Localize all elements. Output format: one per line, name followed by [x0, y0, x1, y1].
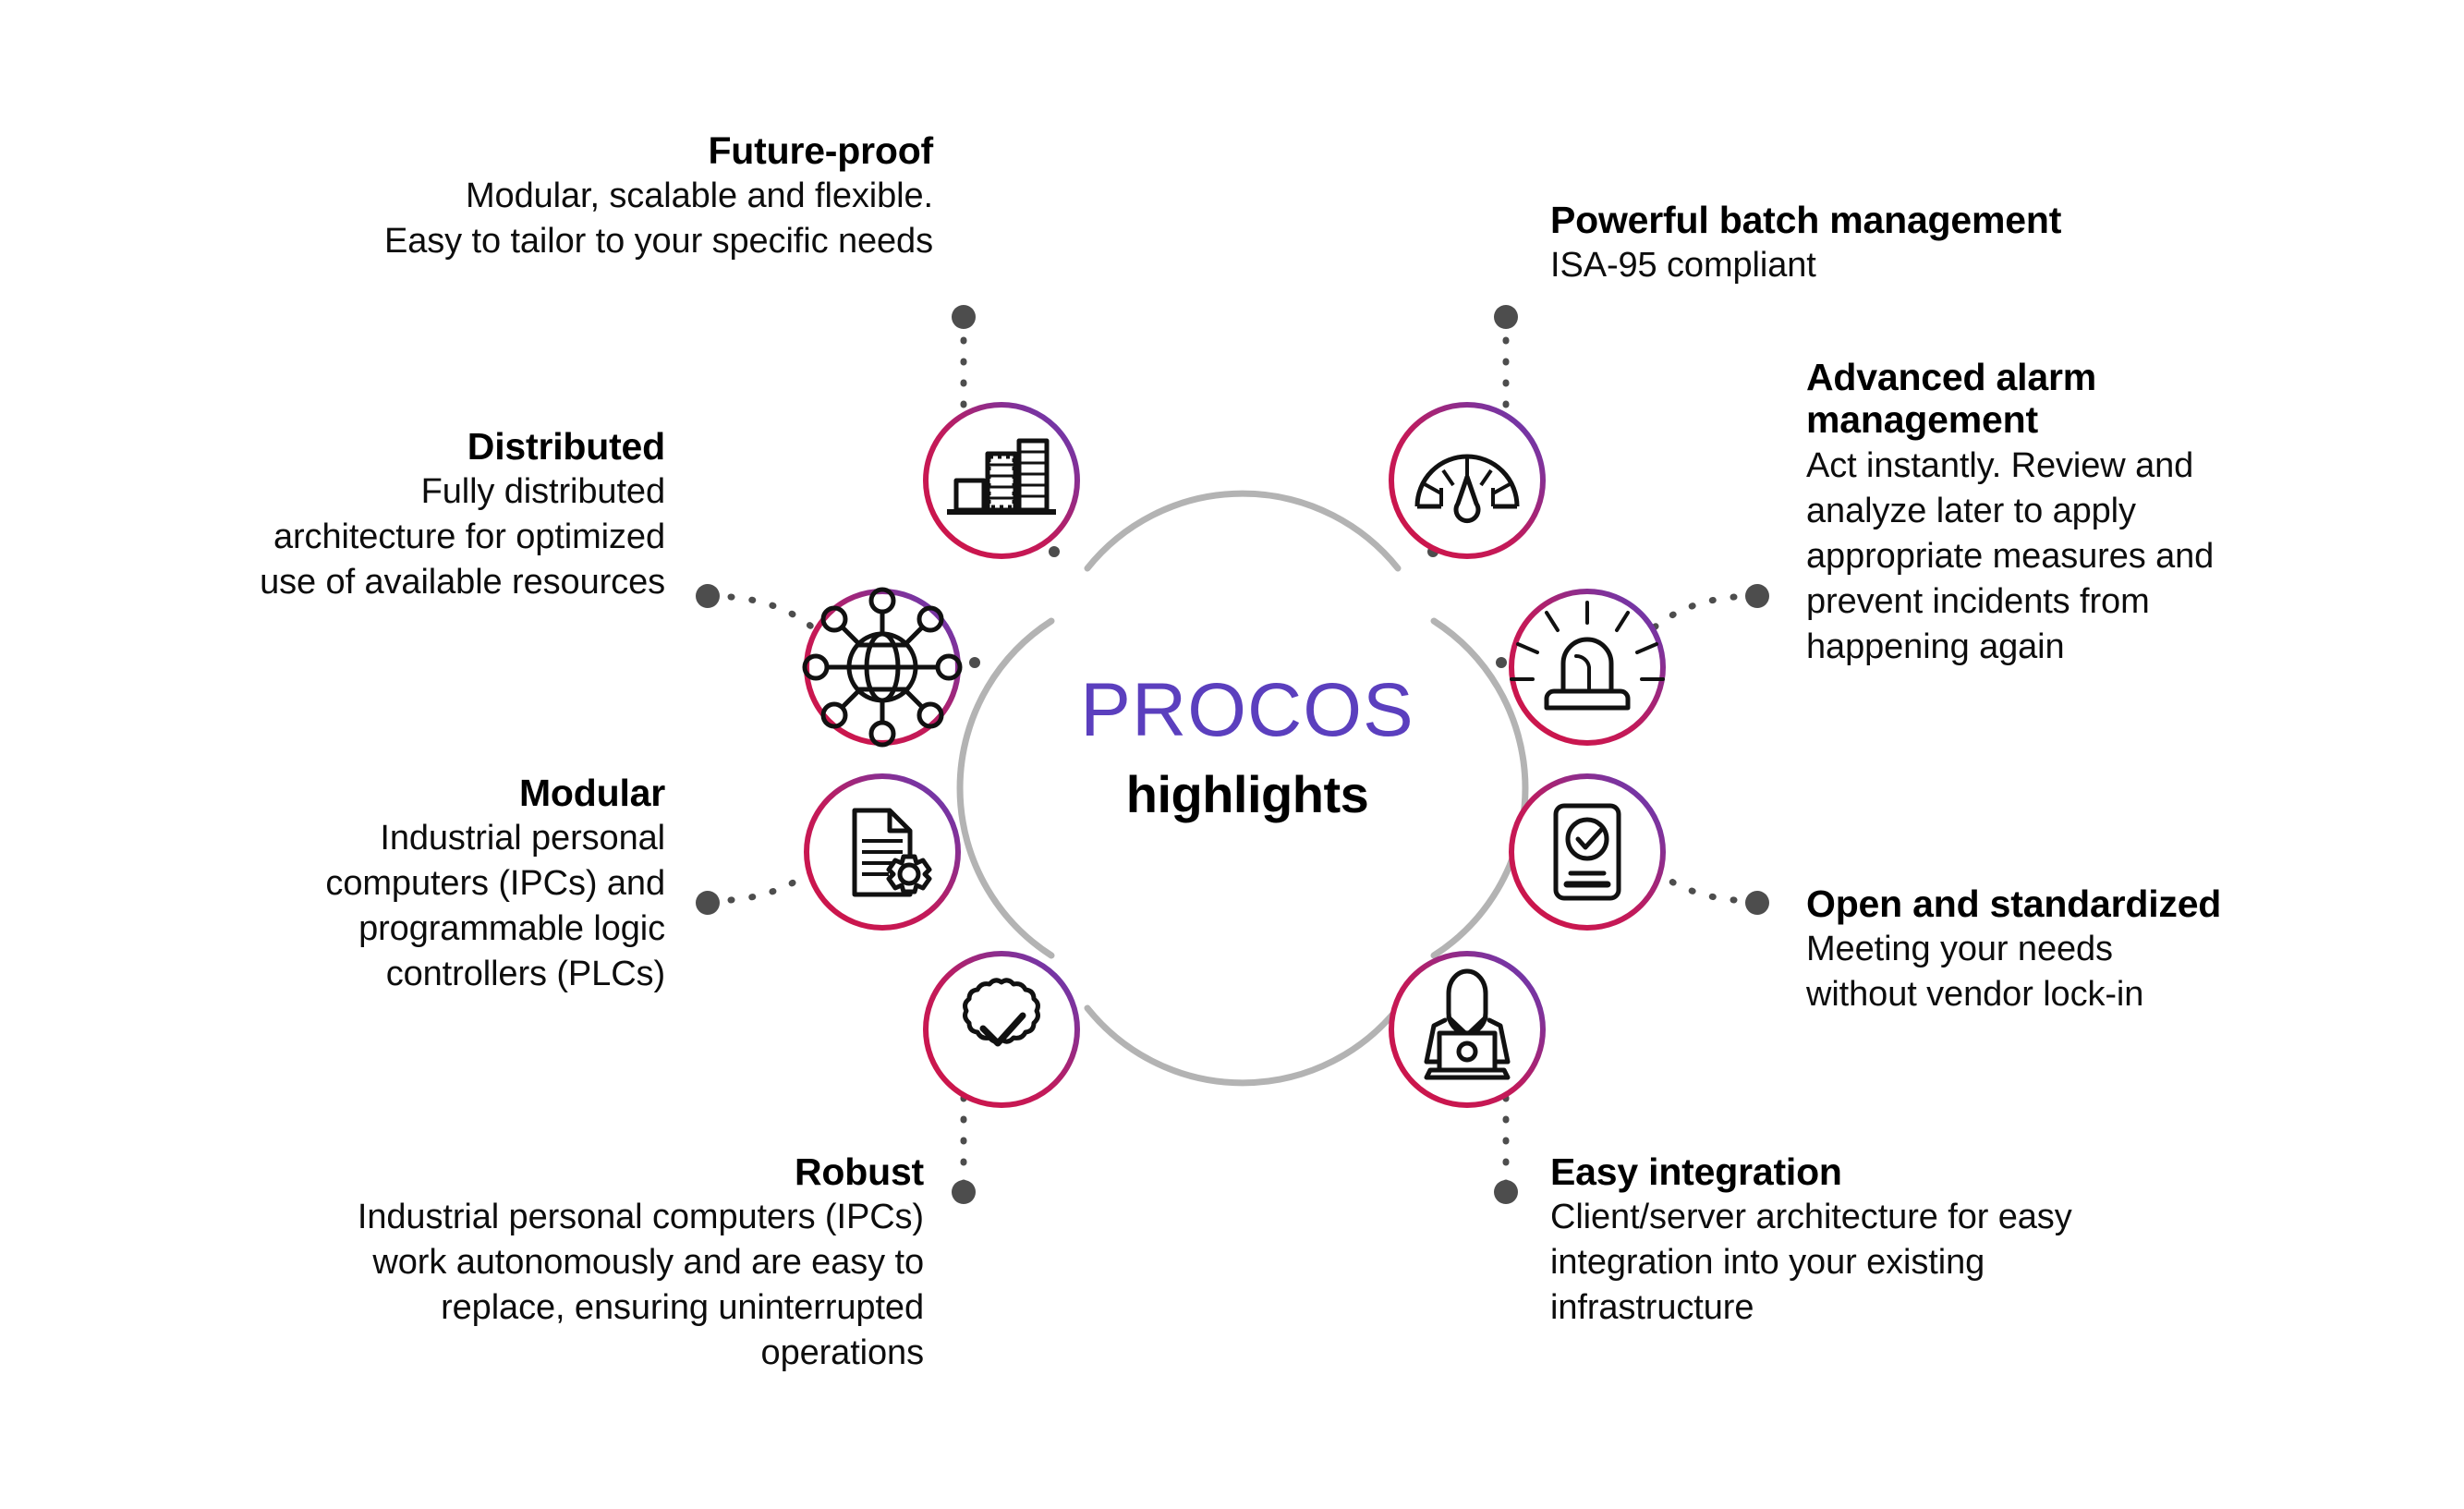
callout-body: Fully distributed architecture for optim… — [37, 469, 665, 605]
bar-chart-icon-ring — [926, 405, 1077, 556]
callout-modular: Modular Industrial personal computers (I… — [74, 772, 665, 997]
callout-body: Modular, scalable and flexible. Easy to … — [74, 174, 933, 264]
badge-check-icon-ring — [926, 954, 1077, 1105]
callout-body: ISA-95 compliant — [1550, 243, 2382, 288]
brand-title: PROCOS — [952, 673, 1543, 748]
callout-future-proof: Future-proof Modular, scalable and flexi… — [74, 129, 933, 264]
node-gauge[interactable] — [1391, 405, 1543, 556]
endpoint-dot — [696, 891, 720, 915]
node-person-laptop[interactable] — [1391, 954, 1543, 1105]
node-bar-chart[interactable] — [926, 405, 1077, 556]
node-document-gear[interactable] — [807, 776, 958, 928]
callout-advanced-alarm-management: Advanced alarm management Act instantly.… — [1806, 356, 2416, 670]
endpoint-dot — [1494, 1180, 1518, 1204]
callout-title: Powerful batch management — [1550, 199, 2382, 241]
callout-title: Modular — [74, 772, 665, 814]
brand-subtitle: highlights — [952, 769, 1543, 821]
infographic-canvas: PROCOS highlights Future-proof Modular, … — [0, 0, 2464, 1509]
callout-robust: Robust Industrial personal computers (IP… — [55, 1150, 924, 1376]
callout-title: Easy integration — [1550, 1150, 2336, 1193]
callout-title: Future-proof — [74, 129, 933, 172]
node-badge-check[interactable] — [926, 954, 1077, 1105]
document-check-icon — [1556, 806, 1619, 898]
callout-body: Industrial personal computers (IPCs) wor… — [55, 1195, 924, 1376]
endpoint-dot — [1494, 305, 1518, 329]
callout-body: Act instantly. Review and analyze later … — [1806, 444, 2416, 670]
node-network-globe[interactable] — [805, 590, 960, 745]
callout-open-and-standardized: Open and standardized Meeting your needs… — [1806, 882, 2453, 1017]
callout-title: Advanced alarm management — [1806, 356, 2416, 442]
endpoint-dot — [952, 1180, 976, 1204]
network-globe-icon — [805, 590, 960, 745]
callout-body: Industrial personal computers (IPCs) and… — [74, 816, 665, 997]
callout-title: Open and standardized — [1806, 882, 2453, 925]
endpoint-dot — [952, 305, 976, 329]
callout-body: Client/server architecture for easy inte… — [1550, 1195, 2336, 1331]
endpoint-dot — [1745, 584, 1769, 608]
callout-body: Meeting your needs without vendor lock-i… — [1806, 927, 2453, 1017]
callout-title: Distributed — [37, 425, 665, 468]
callout-powerful-batch-management: Powerful batch management ISA-95 complia… — [1550, 199, 2382, 288]
callout-title: Robust — [55, 1150, 924, 1193]
endpoint-dot — [1745, 891, 1769, 915]
callout-distributed: Distributed Fully distributed architectu… — [37, 425, 665, 605]
callout-easy-integration: Easy integration Client/server architect… — [1550, 1150, 2336, 1331]
center-label: PROCOS highlights — [952, 673, 1543, 821]
endpoint-dot — [696, 584, 720, 608]
